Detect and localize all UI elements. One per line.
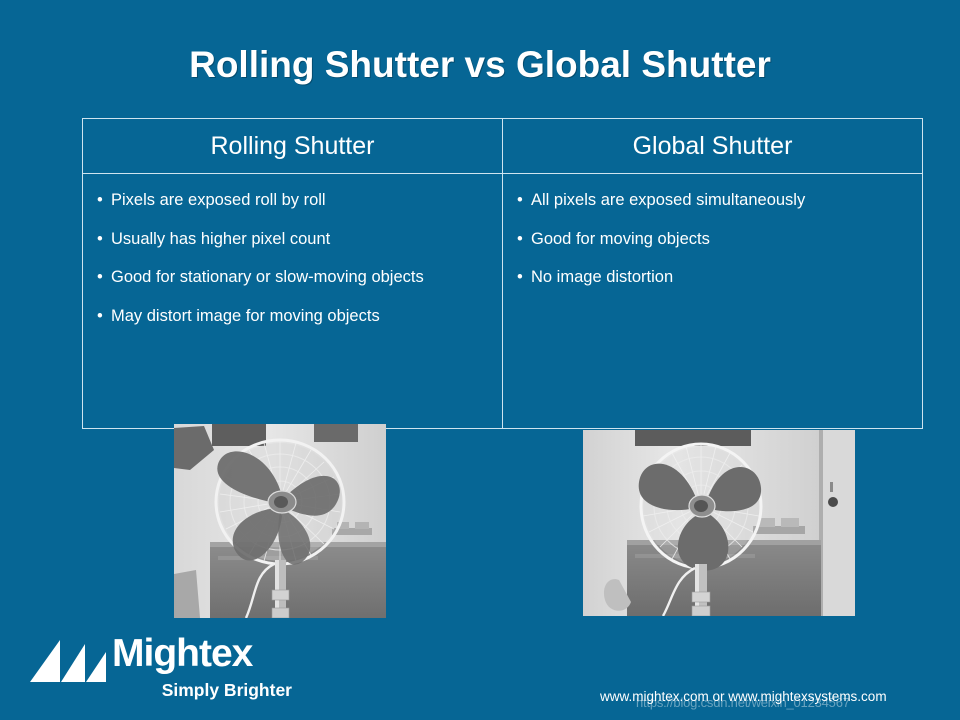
page-title: Rolling Shutter vs Global Shutter xyxy=(0,44,960,86)
mightex-triangles-icon xyxy=(30,638,108,683)
cell-rolling-shutter-features: Pixels are exposed roll by roll Usually … xyxy=(83,174,503,429)
bullet-list-global-shutter: All pixels are exposed simultaneously Go… xyxy=(517,188,912,291)
logo-tagline: Simply Brighter xyxy=(126,682,292,700)
list-item: Pixels are exposed roll by roll xyxy=(97,188,492,214)
global-shutter-fan-photo xyxy=(583,430,855,616)
column-header-rolling-shutter: Rolling Shutter xyxy=(83,119,503,174)
rolling-shutter-fan-photo xyxy=(174,424,386,618)
column-header-global-shutter: Global Shutter xyxy=(503,119,923,174)
bullet-list-rolling-shutter: Pixels are exposed roll by roll Usually … xyxy=(97,188,492,329)
list-item: May distort image for moving objects xyxy=(97,304,492,330)
list-item: Good for stationary or slow-moving objec… xyxy=(97,265,492,291)
cell-global-shutter-features: All pixels are exposed simultaneously Go… xyxy=(503,174,923,429)
list-item: Good for moving objects xyxy=(517,227,912,253)
list-item: Usually has higher pixel count xyxy=(97,227,492,253)
table-row: Pixels are exposed roll by roll Usually … xyxy=(83,174,923,429)
brand-logo: Mightex Simply Brighter xyxy=(30,636,292,708)
list-item: All pixels are exposed simultaneously xyxy=(517,188,912,214)
comparison-table: Rolling Shutter Global Shutter Pixels ar… xyxy=(82,118,923,429)
list-item: No image distortion xyxy=(517,265,912,291)
global-shutter-fan-image xyxy=(583,430,855,616)
rolling-shutter-fan-image xyxy=(174,424,386,618)
table-header-row: Rolling Shutter Global Shutter xyxy=(83,119,923,174)
footer-watermark: https://blog.csdn.net/weixin_01234567 xyxy=(636,695,956,710)
logo-wordmark: Mightex xyxy=(112,634,252,673)
